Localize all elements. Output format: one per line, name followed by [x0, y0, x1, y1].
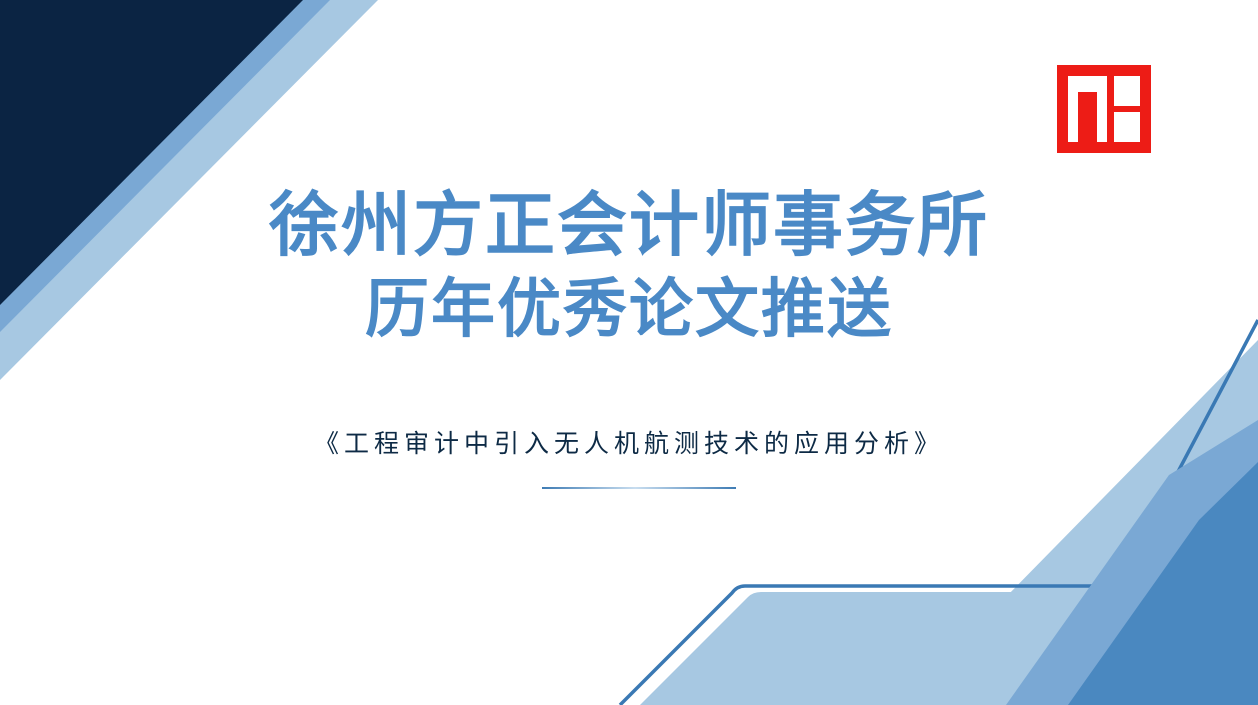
title-line-secondary: 历年优秀论文推送 — [0, 276, 1258, 345]
title-divider — [542, 487, 736, 489]
paper-title-subtitle: 《工程审计中引入无人机航测技术的应用分析》 — [0, 424, 1258, 460]
title-line-primary: 徐州方正会计师事务所 — [0, 188, 1258, 264]
page-title: 徐州方正会计师事务所 历年优秀论文推送 — [0, 188, 1258, 345]
presentation-slide: 徐州方正会计师事务所 历年优秀论文推送 《工程审计中引入无人机航测技术的应用分析… — [0, 0, 1258, 705]
logo-right-upper-block — [1114, 76, 1140, 106]
fangzheng-logo-mark — [1057, 65, 1151, 153]
logo-right-lower-block — [1114, 112, 1140, 142]
fangzheng-logo — [1057, 65, 1151, 153]
